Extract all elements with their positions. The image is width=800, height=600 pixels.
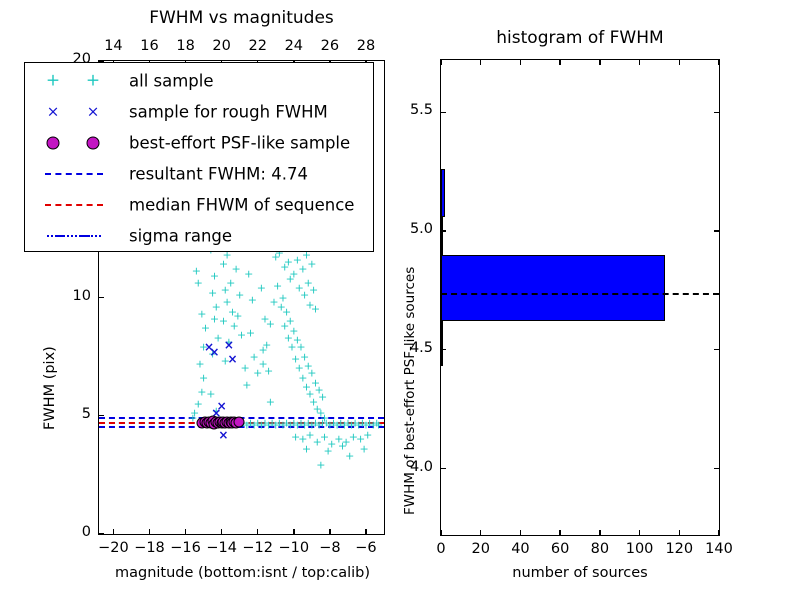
scatter-point-all: +	[374, 420, 383, 431]
right-xtick-label: 0	[421, 541, 461, 557]
dash-dot-line-icon-seg	[81, 235, 90, 237]
scatter-point-all: +	[302, 443, 311, 454]
cross-icon: ×	[47, 104, 60, 119]
right-x-axis-label: number of sources	[440, 565, 720, 581]
left-ytick-label: 0	[57, 524, 91, 540]
left-top-xtick-label: 28	[350, 38, 382, 54]
scatter-point-all: +	[199, 372, 208, 383]
scatter-point-all: +	[309, 285, 318, 296]
right-xtick-mark	[599, 530, 600, 535]
cross-icon: ×	[87, 104, 100, 119]
scatter-point-all: +	[233, 311, 242, 322]
scatter-point-all: +	[206, 389, 215, 400]
left-x-axis-label: magnitude (bottom:isnt / top:calib)	[70, 565, 415, 581]
right-top-xtick-mark	[520, 60, 521, 65]
left-top-xtick-label: 24	[278, 38, 310, 54]
legend-entry[interactable]: sigma range	[25, 220, 373, 251]
left-xtick-mark	[329, 529, 330, 534]
legend-label: sigma range	[129, 226, 232, 245]
dashed-line-icon	[45, 204, 103, 206]
right-ytick-mark-mirror	[714, 468, 719, 469]
right-top-xtick-mark	[679, 60, 680, 65]
left-top-xtick-label: 16	[134, 38, 166, 54]
right-ytick-mark	[441, 468, 446, 469]
left-xtick-mark	[185, 529, 186, 534]
scatter-point-all: +	[210, 313, 219, 324]
left-xtick-label: −6	[348, 540, 384, 556]
dot-icon	[87, 136, 100, 149]
scatter-point-all: +	[244, 268, 253, 279]
scatter-point-psf	[233, 417, 244, 428]
scatter-point-rough: ×	[209, 346, 219, 358]
legend-label: median FHWM of sequence	[129, 195, 354, 214]
scatter-point-all: +	[318, 417, 327, 428]
scatter-point-all: +	[250, 351, 259, 362]
scatter-point-all: +	[273, 280, 282, 291]
scatter-point-all: +	[266, 396, 275, 407]
right-top-xtick-mark	[480, 60, 481, 65]
scatter-point-all: +	[194, 278, 203, 289]
left-y-axis-label: FWHM (pix)	[42, 346, 58, 430]
plus-icon: +	[86, 72, 100, 89]
left-ytick-label: 5	[57, 406, 91, 422]
right-xtick-label: 100	[620, 541, 660, 557]
left-xtick-mark	[365, 529, 366, 534]
dash-dot-line-icon-seg	[55, 235, 64, 237]
right-panel-title: histogram of FWHM	[440, 28, 720, 48]
scatter-point-all: +	[363, 429, 372, 440]
scatter-point-rough: ×	[224, 339, 234, 351]
left-top-xtick-label: 20	[206, 38, 238, 54]
right-xtick-mark	[639, 530, 640, 535]
scatter-point-all: +	[266, 318, 275, 329]
right-xtick-label: 120	[659, 541, 699, 557]
scatter-point-all: +	[257, 283, 266, 294]
right-ytick-mark-mirror	[714, 349, 719, 350]
scatter-point-all: +	[248, 294, 257, 305]
left-top-xtick-label: 26	[314, 38, 346, 54]
left-xtick-mark	[149, 529, 150, 534]
plus-icon: +	[46, 72, 60, 89]
right-xtick-mark	[718, 530, 719, 535]
scatter-point-rough: ×	[227, 353, 237, 365]
right-ytick-mark-mirror	[714, 112, 719, 113]
right-top-xtick-mark	[559, 60, 560, 65]
right-ytick-mark	[441, 349, 446, 350]
right-xtick-mark	[559, 530, 560, 535]
scatter-point-all: +	[195, 358, 204, 369]
scatter-point-all: +	[316, 460, 325, 471]
scatter-point-all: +	[197, 309, 206, 320]
left-xtick-label: −14	[204, 540, 240, 556]
histogram-bar	[441, 255, 665, 322]
right-xtick-label: 20	[461, 541, 501, 557]
scatter-point-all: +	[197, 387, 206, 398]
legend-entry[interactable]: ++all sample	[25, 65, 373, 96]
left-ytick-label: 10	[57, 288, 91, 304]
scatter-point-all: +	[289, 268, 298, 279]
left-ytick-mark	[99, 415, 104, 416]
legend-box: ++all sample××sample for rough FWHMbest-…	[24, 62, 374, 252]
right-ytick-mark	[441, 112, 446, 113]
histogram-bar	[441, 321, 443, 366]
right-ytick-label: 4.0	[395, 459, 433, 475]
left-xtick-mark	[257, 529, 258, 534]
right-top-xtick-mark	[718, 60, 719, 65]
legend-entry[interactable]: best-effort PSF-like sample	[25, 127, 373, 158]
left-ytick-mark	[99, 297, 104, 298]
scatter-point-all: +	[246, 327, 255, 338]
left-xtick-mark	[293, 529, 294, 534]
scatter-point-all: +	[298, 264, 307, 275]
scatter-point-all: +	[280, 320, 289, 331]
right-ytick-label: 5.0	[395, 221, 433, 237]
left-xtick-label: −18	[132, 540, 168, 556]
scatter-point-all: +	[219, 316, 228, 327]
scatter-point-all: +	[323, 446, 332, 457]
figure-canvas: FWHM vs magnitudes +++++++++++++++++++++…	[0, 0, 800, 600]
right-y-axis-label: FWHM of best-effort PSF-like sources	[402, 267, 418, 515]
scatter-point-all: +	[287, 342, 296, 353]
legend-entry[interactable]: resultant FWHM: 4.74	[25, 158, 373, 189]
dot-icon	[47, 136, 60, 149]
scatter-point-all: +	[201, 323, 210, 334]
scatter-point-all: +	[212, 301, 221, 312]
scatter-point-all: +	[235, 290, 244, 301]
dashed-line-icon	[45, 173, 103, 175]
right-ytick-mark-mirror	[714, 230, 719, 231]
scatter-point-all: +	[213, 332, 222, 343]
right-ytick-label: 4.5	[395, 340, 433, 356]
right-xtick-mark	[520, 530, 521, 535]
scatter-point-all: +	[345, 450, 354, 461]
right-top-xtick-mark	[440, 60, 441, 65]
left-top-xtick-label: 22	[242, 38, 274, 54]
right-xtick-label: 140	[699, 541, 739, 557]
right-xtick-mark	[480, 530, 481, 535]
scatter-point-all: +	[311, 304, 320, 315]
scatter-point-all: +	[226, 278, 235, 289]
legend-label: all sample	[129, 71, 214, 90]
right-xtick-label: 80	[580, 541, 620, 557]
scatter-point-all: +	[307, 259, 316, 270]
right-ytick-label: 5.5	[395, 102, 433, 118]
left-xtick-mark	[221, 529, 222, 534]
left-xtick-mark	[113, 529, 114, 534]
right-xtick-mark	[440, 530, 441, 535]
left-ytick-mark	[99, 533, 104, 534]
scatter-point-all: +	[192, 266, 201, 277]
legend-label: sample for rough FWHM	[129, 102, 328, 121]
scatter-point-all: +	[237, 330, 246, 341]
left-top-xtick-label: 18	[170, 38, 202, 54]
left-panel-title: FWHM vs magnitudes	[98, 8, 385, 28]
scatter-point-all: +	[262, 339, 271, 350]
right-top-xtick-mark	[599, 60, 600, 65]
median-fwhm-dashed-line	[441, 293, 719, 295]
right-ytick-mark	[441, 230, 446, 231]
histogram-bar	[441, 217, 443, 255]
scatter-point-all: +	[208, 287, 217, 298]
legend-label: best-effort PSF-like sample	[129, 133, 350, 152]
scatter-point-all: +	[284, 257, 293, 268]
right-xtick-mark	[679, 530, 680, 535]
scatter-point-all: +	[318, 391, 327, 402]
right-top-xtick-mark	[639, 60, 640, 65]
left-xtick-label: −16	[168, 540, 204, 556]
legend-entry[interactable]: ××sample for rough FWHM	[25, 96, 373, 127]
scatter-point-all: +	[259, 358, 268, 369]
right-xtick-label: 60	[540, 541, 580, 557]
scatter-point-all: +	[242, 380, 251, 391]
right-xtick-label: 40	[500, 541, 540, 557]
scatter-point-all: +	[240, 363, 249, 374]
scatter-point-all: +	[210, 271, 219, 282]
scatter-point-all: +	[231, 264, 240, 275]
scatter-point-all: +	[269, 297, 278, 308]
left-xtick-label: −20	[95, 540, 131, 556]
legend-label: resultant FWHM: 4.74	[129, 164, 308, 183]
legend-entry[interactable]: median FHWM of sequence	[25, 189, 373, 220]
left-xtick-label: −8	[312, 540, 348, 556]
histogram-bar	[441, 169, 445, 217]
left-top-xtick-label: 14	[97, 38, 129, 54]
scatter-point-all: +	[360, 443, 369, 454]
histogram-plot-area	[441, 60, 719, 535]
scatter-point-rough: ×	[218, 429, 228, 441]
left-xtick-label: −10	[276, 540, 312, 556]
left-xtick-label: −12	[240, 540, 276, 556]
